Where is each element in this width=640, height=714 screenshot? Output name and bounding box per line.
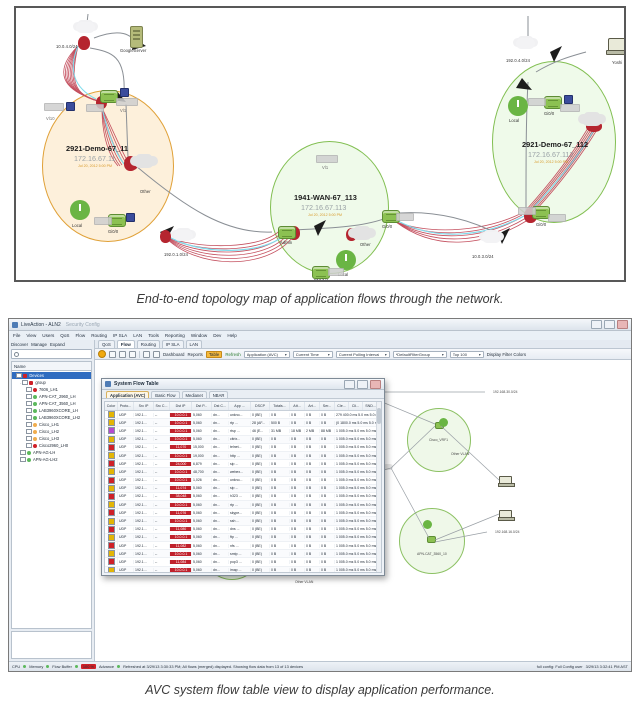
cell-server: 0 B — [320, 445, 335, 449]
cell-dst-ip: 11,070 — [170, 445, 192, 449]
router-admin-center[interactable] — [278, 226, 296, 239]
menu-item-lan[interactable]: LAN — [133, 333, 142, 338]
cell-dst-ip: 10.0.0.1 — [170, 413, 192, 417]
cell-color-swatch — [105, 460, 118, 467]
cell-src-country: -- — [154, 486, 170, 490]
list-item[interactable]: - group — [12, 379, 91, 386]
tree-checkbox[interactable] — [26, 387, 32, 393]
application-type-dropdown[interactable]: Application (AVC) ▾ — [244, 351, 290, 358]
cell-dst-country: dn... — [212, 462, 229, 466]
cell-server: 0 B — [320, 421, 335, 425]
cell-dscp: 0 (BE) — [251, 454, 270, 458]
cell-server: 0 B — [320, 544, 335, 548]
list-item[interactable]: APN-CAT_2960_LH — [12, 393, 91, 400]
cluster-ip: 172.16.67.112 — [528, 150, 573, 159]
cluster-cloud-right[interactable] — [582, 114, 602, 126]
cell-protocol: UDP — [118, 552, 134, 556]
cell-src-country: -- — [154, 478, 170, 482]
dialog-tab-medianet[interactable]: Medianet — [182, 391, 207, 398]
tab-lan[interactable]: LAN — [186, 340, 203, 348]
tree-checkbox[interactable] — [22, 380, 28, 386]
minimize-button[interactable] — [591, 320, 602, 329]
subnet-cloud-10-0-4[interactable] — [76, 22, 95, 33]
policy-badge-icon — [126, 213, 135, 222]
cell-totals: 0 B — [270, 437, 290, 441]
cell-application: webex... — [229, 470, 251, 474]
cell-dst-ip: 10.0.0.1 — [170, 552, 192, 556]
top-n-dropdown[interactable]: Top 100 ▾ — [450, 351, 484, 358]
window-controls — [591, 320, 628, 329]
topology-map: 10.0.4.0/24 GoogleServer Vl10 Vl1 2921-D… — [16, 8, 624, 280]
dialog-close-button[interactable] — [370, 380, 381, 389]
cell-dscp: 0 (BE) — [251, 560, 270, 564]
cell-dst-port: 5,060 — [192, 503, 212, 507]
tree-checkbox[interactable] — [26, 408, 32, 414]
menu-item-reporting[interactable]: Reporting — [165, 333, 185, 338]
tab-routing[interactable]: Routing — [137, 340, 160, 348]
cell-protocol: UDP — [118, 478, 134, 482]
table-row[interactable]: UDP192.1...--11,0765,060dn...skype...0 (… — [105, 509, 381, 517]
cell-dst-port: 5,060 — [192, 568, 212, 572]
tree-column-name-label: Name — [14, 364, 26, 369]
maximize-button[interactable] — [604, 320, 615, 329]
column-header-dst-country[interactable]: Dst C... — [212, 402, 229, 410]
cell-src-ip: 192.1... — [134, 552, 154, 556]
cell-dscp: 0 (BE) — [251, 437, 270, 441]
cell-application: smtp ... — [229, 552, 251, 556]
sidebar-search-field[interactable] — [11, 349, 92, 359]
cell-dst-country: dn... — [212, 478, 229, 482]
cell-src-country: -- — [154, 413, 170, 417]
table-button[interactable]: Table — [206, 351, 223, 358]
table-row[interactable]: UDP192.1...--10.0.0.15,060dn...unkno...0… — [105, 411, 381, 419]
interface-label: Local — [72, 223, 82, 228]
subnet-cloud-10-0-3[interactable] — [482, 232, 501, 243]
list-item[interactable]: LAB3960XCORE_LH — [12, 407, 91, 414]
cell-metrics-tail: 1 005.0 ms 5.0 ms 5.0 ms — [335, 535, 381, 539]
cell-metrics-tail: 1 005.0 ms 5.0 ms 5.0 ms — [335, 486, 381, 490]
window-title-secondary: Security Config — [66, 322, 100, 328]
device-status-icon — [33, 388, 37, 392]
list-item[interactable]: APN-CAT_3560_LH — [12, 400, 91, 407]
cell-dst-port: 5,060 — [192, 544, 212, 548]
table-row[interactable]: UDP192.1...--11,0845,060dn...pop3 ...0 (… — [105, 558, 381, 566]
cell-att: 18 MB — [290, 429, 305, 433]
cell-totals: 0 B — [270, 445, 290, 449]
cell-att: 0 B — [290, 462, 305, 466]
cell-color-swatch — [105, 534, 118, 541]
yoshi-laptop-node[interactable] — [608, 38, 626, 52]
cell-dst-ip: 38,048 — [170, 494, 192, 498]
cell-dst-ip: 10.0.0.1 — [170, 429, 192, 433]
cell-dscp: 28 (AF... — [251, 421, 270, 425]
color-swatch-icon — [108, 411, 115, 418]
manage-button[interactable]: Manage — [31, 342, 47, 347]
device-status-icon — [33, 430, 37, 434]
device-status-icon — [27, 451, 31, 455]
list-item[interactable]: Cisco_LH1 — [12, 421, 91, 428]
column-header-dscp[interactable]: DSCP — [251, 402, 270, 410]
table-row[interactable]: UDP192.1...--10.0.0.119,000dn...http ...… — [105, 452, 381, 460]
cell-src-country: -- — [154, 470, 170, 474]
device-status-icon — [33, 444, 37, 448]
cell-protocol: UDP — [118, 437, 134, 441]
cell-att: 0 B — [290, 552, 305, 556]
cell-totals: 0 B — [270, 478, 290, 482]
figure-liveaction: LiveAction - ALN2 Security Config File V… — [0, 318, 640, 697]
cell-art: 0 B — [305, 519, 320, 523]
color-swatch-icon — [108, 509, 115, 516]
list-item[interactable]: Cisco2960_LH0 — [12, 442, 91, 449]
column-header-dst-ip[interactable]: Dst IP — [170, 402, 192, 410]
cell-att: 0 B — [290, 486, 305, 490]
tree-checkbox[interactable] — [26, 429, 32, 435]
menu-item-file[interactable]: File — [13, 333, 20, 338]
cell-server: 0 B — [320, 568, 335, 572]
flow-toolbar: Dashboard Reports Table Refresh Applicat… — [95, 349, 631, 360]
cell-color-swatch — [105, 419, 118, 426]
cell-totals: 0 B — [270, 413, 290, 417]
cluster-cloud-left[interactable] — [134, 156, 154, 168]
column-header-cle[interactable]: Cle... — [335, 402, 349, 410]
node-label: 10.0.4.0/24 — [56, 44, 78, 49]
flow-table-grid[interactable]: Color Proto... Src IP Src C... Dst IP Ds… — [104, 401, 382, 573]
list-item[interactable]: Cisco_LH2 — [12, 428, 91, 435]
cell-art: 0 B — [305, 413, 320, 417]
cell-dscp: 0 (BE) — [251, 494, 270, 498]
cell-art: 0 B — [305, 527, 320, 531]
cell-src-country: -- — [154, 560, 170, 564]
list-item[interactable]: LAB3960XCORE_LH2 — [12, 414, 91, 421]
column-header-att[interactable]: Att... — [290, 402, 305, 410]
topology-canvas[interactable]: Cisco_VRF1 APN-CAT_3560_10 Other VLAN Ot… — [95, 360, 631, 661]
table-row[interactable]: UDP192.1...--10.0.0.11,026dn...unkno...0… — [105, 477, 381, 485]
reports-button[interactable]: Reports — [187, 352, 202, 357]
pan-icon[interactable] — [109, 351, 116, 358]
chevron-down-icon: ▾ — [479, 352, 481, 357]
dialog-window-controls — [344, 380, 381, 389]
menu-item-dev[interactable]: Dev — [213, 333, 221, 338]
dialog-maximize-button[interactable] — [357, 380, 368, 389]
table-row[interactable]: UDP192.1...--10.0.0.15,060dn...smtp ...0… — [105, 550, 381, 558]
cell-dst-ip: 11,082 — [170, 544, 192, 548]
cell-application: citrix... — [229, 437, 251, 441]
cell-art: 0 B — [305, 552, 320, 556]
column-header-server[interactable]: Ser... — [320, 402, 335, 410]
table-row[interactable]: UDP192.1...--10.0.0.15,060dn...ssh ...0 … — [105, 517, 381, 525]
table-row[interactable]: UDP192.1...--24,0006,879dn...sip ...0 (B… — [105, 460, 381, 468]
cell-metrics-tail: 1 005.0 ms 5.0 ms 5.0 ms — [335, 568, 381, 572]
cell-dst-ip: 10.0.0.1 — [170, 478, 192, 482]
cell-totals: 0 B — [270, 454, 290, 458]
cell-dst-port: 5,060 — [192, 421, 212, 425]
menu-item-help[interactable]: Help — [227, 333, 236, 338]
cell-dscp: 0 (BE) — [251, 478, 270, 482]
cell-color-swatch — [105, 542, 118, 549]
cell-application: imap ... — [229, 568, 251, 572]
color-swatch-icon — [108, 493, 115, 500]
cell-dst-ip: 11,074 — [170, 486, 192, 490]
column-header-cli[interactable]: Cli... — [349, 402, 363, 410]
zoom-in-icon[interactable] — [143, 351, 150, 358]
column-header-src-ip[interactable]: Src IP — [134, 402, 154, 410]
cell-color-swatch — [105, 550, 118, 557]
cell-art: 0 B — [305, 462, 320, 466]
menu-item-view[interactable]: View — [26, 333, 36, 338]
cell-application: nfs ... — [229, 544, 251, 548]
discover-button[interactable]: Discover — [11, 342, 28, 347]
color-swatch-icon — [108, 558, 115, 565]
cell-server: 0 B — [320, 511, 335, 515]
table-row[interactable]: UDP192.1...--10.0.0.148,700dn...webex...… — [105, 468, 381, 476]
cell-protocol: UDP — [118, 470, 134, 474]
status-bar: CPU Memory Flow Buffer 100 % Advance Ref… — [9, 661, 631, 671]
dialog-tab-application-avc[interactable]: Application (AVC) — [106, 391, 149, 398]
cell-art: 0 B — [305, 486, 320, 490]
table-row[interactable]: UDP192.1...--11,0745,060dn...sip ...0 (B… — [105, 485, 381, 493]
dialog-minimize-button[interactable] — [344, 380, 355, 389]
cell-application: skype... — [229, 511, 251, 515]
interface-label: Vl1 — [120, 108, 126, 113]
list-item-label: APN-AG-LH2 — [33, 457, 58, 462]
tree-checkbox[interactable] — [20, 457, 26, 463]
figure-page: 10.0.4.0/24 GoogleServer Vl10 Vl1 2921-D… — [0, 0, 640, 714]
cell-src-ip: 192.1... — [134, 568, 154, 572]
table-row[interactable]: UDP192.1...--10.0.0.15,060dn...imap ...0… — [105, 567, 381, 573]
cell-src-country: -- — [154, 462, 170, 466]
table-row[interactable]: UDP192.1...--10.0.0.15,060dn...ftp ...0 … — [105, 534, 381, 542]
column-header-src-country[interactable]: Src C... — [154, 402, 170, 410]
tree-checkbox[interactable] — [26, 443, 32, 449]
cell-att: 0 B — [290, 454, 305, 458]
tree-expander-icon: - — [14, 373, 15, 378]
device-tree[interactable]: - Devices - group — [11, 370, 92, 629]
tree-checkbox[interactable] — [26, 401, 32, 407]
refresh-button[interactable]: Refresh — [225, 352, 240, 357]
cluster-timestamp: Jul 20, 2012 5:00 PM — [308, 213, 342, 217]
cell-metrics-tail: 1 005.0 ms 5.0 ms 5.0 ms — [335, 544, 381, 548]
table-header-row: Color Proto... Src IP Src C... Dst IP Ds… — [105, 402, 381, 411]
table-row[interactable]: UDP192.1...--10.0.0.15,060dn...rtp ...28… — [105, 419, 381, 427]
cell-server: 0 B — [320, 527, 335, 531]
figure-topology: 10.0.4.0/24 GoogleServer Vl10 Vl1 2921-D… — [0, 6, 640, 306]
view-tabstrip: QoS Flow Routing IP SLA LAN — [95, 340, 631, 349]
cell-src-country: -- — [154, 568, 170, 572]
cluster-cloud-center[interactable] — [352, 228, 372, 240]
tree-checkbox[interactable] — [26, 436, 32, 442]
cell-att: 0 B — [290, 413, 305, 417]
list-item-label: 7606_LH1 — [39, 387, 58, 392]
cell-dst-country: dn... — [212, 486, 229, 490]
subnet-cloud-192-0-1[interactable] — [174, 230, 193, 241]
cell-att: 0 B — [290, 544, 305, 548]
interface-label: Admin — [280, 240, 292, 245]
list-item[interactable]: APN-AG-LH2 — [12, 456, 91, 463]
menu-item-users[interactable]: Users — [42, 333, 54, 338]
list-item-label: Devices — [29, 373, 44, 378]
list-item-label: APN-CAT_3560_LH — [39, 401, 76, 406]
menu-item-flow[interactable]: Flow — [75, 333, 85, 338]
cell-server: 0 B — [320, 462, 335, 466]
interface-label: Gi0/0 — [382, 224, 392, 229]
cell-dscp: 0 (BE) — [251, 552, 270, 556]
interface-chip — [560, 104, 580, 112]
menu-item-ipsla[interactable]: IP SLA — [113, 333, 127, 338]
cell-dst-country: dn... — [212, 429, 229, 433]
color-swatch-icon — [108, 452, 115, 459]
cell-totals: 0 B — [270, 494, 290, 498]
dialog-icon — [105, 381, 111, 387]
cell-dscp: 0 (BE) — [251, 535, 270, 539]
table-row[interactable]: UDP192.1...--10.0.0.15,060dn...citrix...… — [105, 436, 381, 444]
table-row[interactable]: UDP192.1...--11,0825,060dn...nfs ...0 (B… — [105, 542, 381, 550]
tab-qos[interactable]: QoS — [98, 340, 115, 348]
list-item[interactable]: Cisco_LH3 — [12, 435, 91, 442]
color-swatch-icon — [108, 534, 115, 541]
cell-dscp: 0 (BE) — [251, 462, 270, 466]
topology-image-frame: 10.0.4.0/24 GoogleServer Vl10 Vl1 2921-D… — [14, 6, 626, 282]
cell-metrics-tail: 1 005.0 ms 5.0 ms 5.0 ms — [335, 503, 381, 507]
cell-src-ip: 192.1... — [134, 511, 154, 515]
list-item-label: Cisco_LH3 — [39, 436, 59, 441]
list-item-label: Cisco_LH2 — [39, 429, 59, 434]
cell-dst-port: 5,060 — [192, 511, 212, 515]
subnet-cloud-192-0-4[interactable] — [516, 38, 535, 49]
interface-label: Fa0/1/1 — [314, 278, 329, 282]
tree-checkbox[interactable] — [16, 373, 22, 379]
status-advance-label[interactable]: Advance — [99, 664, 114, 669]
column-header-application[interactable]: App ... — [229, 402, 251, 410]
menu-item-tools[interactable]: Tools — [148, 333, 159, 338]
cell-art: 0 B — [305, 503, 320, 507]
cell-application: sip ... — [229, 462, 251, 466]
tree-checkbox[interactable] — [26, 415, 32, 421]
dialog-tab-basic-flow[interactable]: Basic Flow — [151, 391, 179, 398]
window-titlebar: LiveAction - ALN2 Security Config — [9, 319, 631, 331]
cell-totals: 0 B — [270, 470, 290, 474]
cell-dscp: 0 (BE) — [251, 519, 270, 523]
cell-src-ip: 192.1... — [134, 486, 154, 490]
table-row[interactable]: UDP192.1...--38,0485,060dn...h323 ...0 (… — [105, 493, 381, 501]
dropdown-value: Top 100 — [453, 352, 467, 357]
cell-server: 0 B — [320, 519, 335, 523]
cell-dscp: 0 (BE) — [251, 503, 270, 507]
cell-totals: 0 B — [270, 462, 290, 466]
node-label: 192.0.4.0/24 — [506, 58, 530, 63]
time-range-dropdown[interactable]: Current Time ▾ — [293, 351, 333, 358]
cell-server: 0 B — [320, 470, 335, 474]
cell-src-ip: 192.1... — [134, 544, 154, 548]
dropdown-value: Application (AVC) — [247, 352, 278, 357]
cluster-title: 2921-Demo-67_112 — [522, 140, 588, 149]
cell-color-swatch — [105, 567, 118, 573]
color-swatch-icon — [108, 518, 115, 525]
local-clock-icon — [70, 200, 90, 220]
cell-protocol: UDP — [118, 568, 134, 572]
column-header-protocol[interactable]: Proto... — [118, 402, 134, 410]
expand-button[interactable]: Expand — [50, 342, 65, 347]
gear-icon[interactable] — [98, 350, 106, 358]
cell-dst-ip: 11,076 — [170, 511, 192, 515]
scrollbar-thumb[interactable] — [377, 408, 381, 424]
local-clock-icon — [508, 96, 528, 116]
pencil-icon[interactable] — [119, 351, 126, 358]
cell-src-country: -- — [154, 437, 170, 441]
interface-label: Local — [509, 118, 519, 123]
dialog-tab-nbar[interactable]: NBAR — [209, 391, 229, 398]
cell-metrics-tail: 1 005.0 ms 5.0 ms 5.0 ms — [335, 437, 381, 441]
filter-group-dropdown[interactable]: *DefaultFilterGroup ▾ — [393, 351, 447, 358]
policy-badge-icon — [564, 95, 573, 104]
table-row[interactable]: UDP192.1...--10.0.0.15,060dn...rtp ...0 … — [105, 501, 381, 509]
list-item[interactable]: - Devices — [12, 372, 91, 379]
chevron-down-icon: ▾ — [385, 352, 387, 357]
dashboard-button[interactable]: Dashboard — [163, 352, 184, 357]
cell-dst-ip: 10.0.0.1 — [170, 470, 192, 474]
column-header-art[interactable]: Art... — [305, 402, 320, 410]
cell-dst-ip: 10.0.0.1 — [170, 421, 192, 425]
tree-checkbox[interactable] — [26, 422, 32, 428]
tree-checkbox[interactable] — [26, 394, 32, 400]
layout-icon[interactable] — [129, 351, 136, 358]
table-vertical-scrollbar[interactable] — [376, 402, 381, 572]
menu-item-window[interactable]: Window — [191, 333, 207, 338]
flow-buffer-status-icon — [75, 665, 78, 668]
cell-server: 0 B — [320, 478, 335, 482]
interface-label: Other — [360, 242, 371, 247]
list-item[interactable]: 7606_LH1 — [12, 386, 91, 393]
cell-art: 0 B — [305, 568, 320, 572]
color-swatch-icon — [108, 485, 115, 492]
cell-protocol: UDP — [118, 494, 134, 498]
polling-interval-dropdown[interactable]: Current Polling Interval ▾ — [336, 351, 390, 358]
cell-att: 0 B — [290, 421, 305, 425]
cell-dst-ip: 10.0.0.1 — [170, 437, 192, 441]
menu-item-routing[interactable]: Routing — [91, 333, 107, 338]
table-row[interactable]: UDP192.1...--11,0805,060dn...dns ...0 (B… — [105, 526, 381, 534]
cell-dscp: 0 (BE) — [251, 470, 270, 474]
column-header-totals[interactable]: Totals... — [270, 402, 290, 410]
cell-art: 0 B — [305, 544, 320, 548]
cell-server: 0 B — [320, 437, 335, 441]
cell-att: 0 B — [290, 503, 305, 507]
google-server-node[interactable] — [130, 26, 143, 48]
tree-checkbox[interactable] — [20, 450, 26, 456]
table-row[interactable]: UDP192.1...--10.0.0.15,060dn...rtsp ...4… — [105, 427, 381, 435]
cell-dscp: 0 (BE) — [251, 486, 270, 490]
status-badge[interactable]: 100 % — [81, 664, 96, 669]
policy-badge-icon — [66, 102, 75, 111]
column-header-color[interactable]: Color — [105, 402, 118, 410]
list-item[interactable]: APN-AG-LH — [12, 449, 91, 456]
tree-expander-icon: - — [20, 380, 21, 385]
tab-ipsla[interactable]: IP SLA — [162, 340, 184, 348]
tab-flow[interactable]: Flow — [117, 340, 135, 348]
system-flow-table-dialog[interactable]: System Flow Table Application (AVC) — [101, 378, 385, 576]
zoom-out-icon[interactable] — [153, 351, 160, 358]
close-button[interactable] — [617, 320, 628, 329]
table-row[interactable]: UDP192.1...--11,07015,000dn...telnet...0… — [105, 444, 381, 452]
dialog-titlebar: System Flow Table — [102, 379, 384, 390]
menu-item-qos[interactable]: QoS — [60, 333, 69, 338]
cell-dscp: 0 (BE) — [251, 511, 270, 515]
column-header-dst-port[interactable]: Dst P... — [192, 402, 212, 410]
status-config-user: full config: Full Config user — [537, 664, 583, 669]
display-filter-colors-button[interactable]: Display Filter Colors — [487, 352, 526, 357]
cell-dst-port: 19,000 — [192, 454, 212, 458]
cell-dst-ip: 24,000 — [170, 462, 192, 466]
cell-color-swatch — [105, 518, 118, 525]
